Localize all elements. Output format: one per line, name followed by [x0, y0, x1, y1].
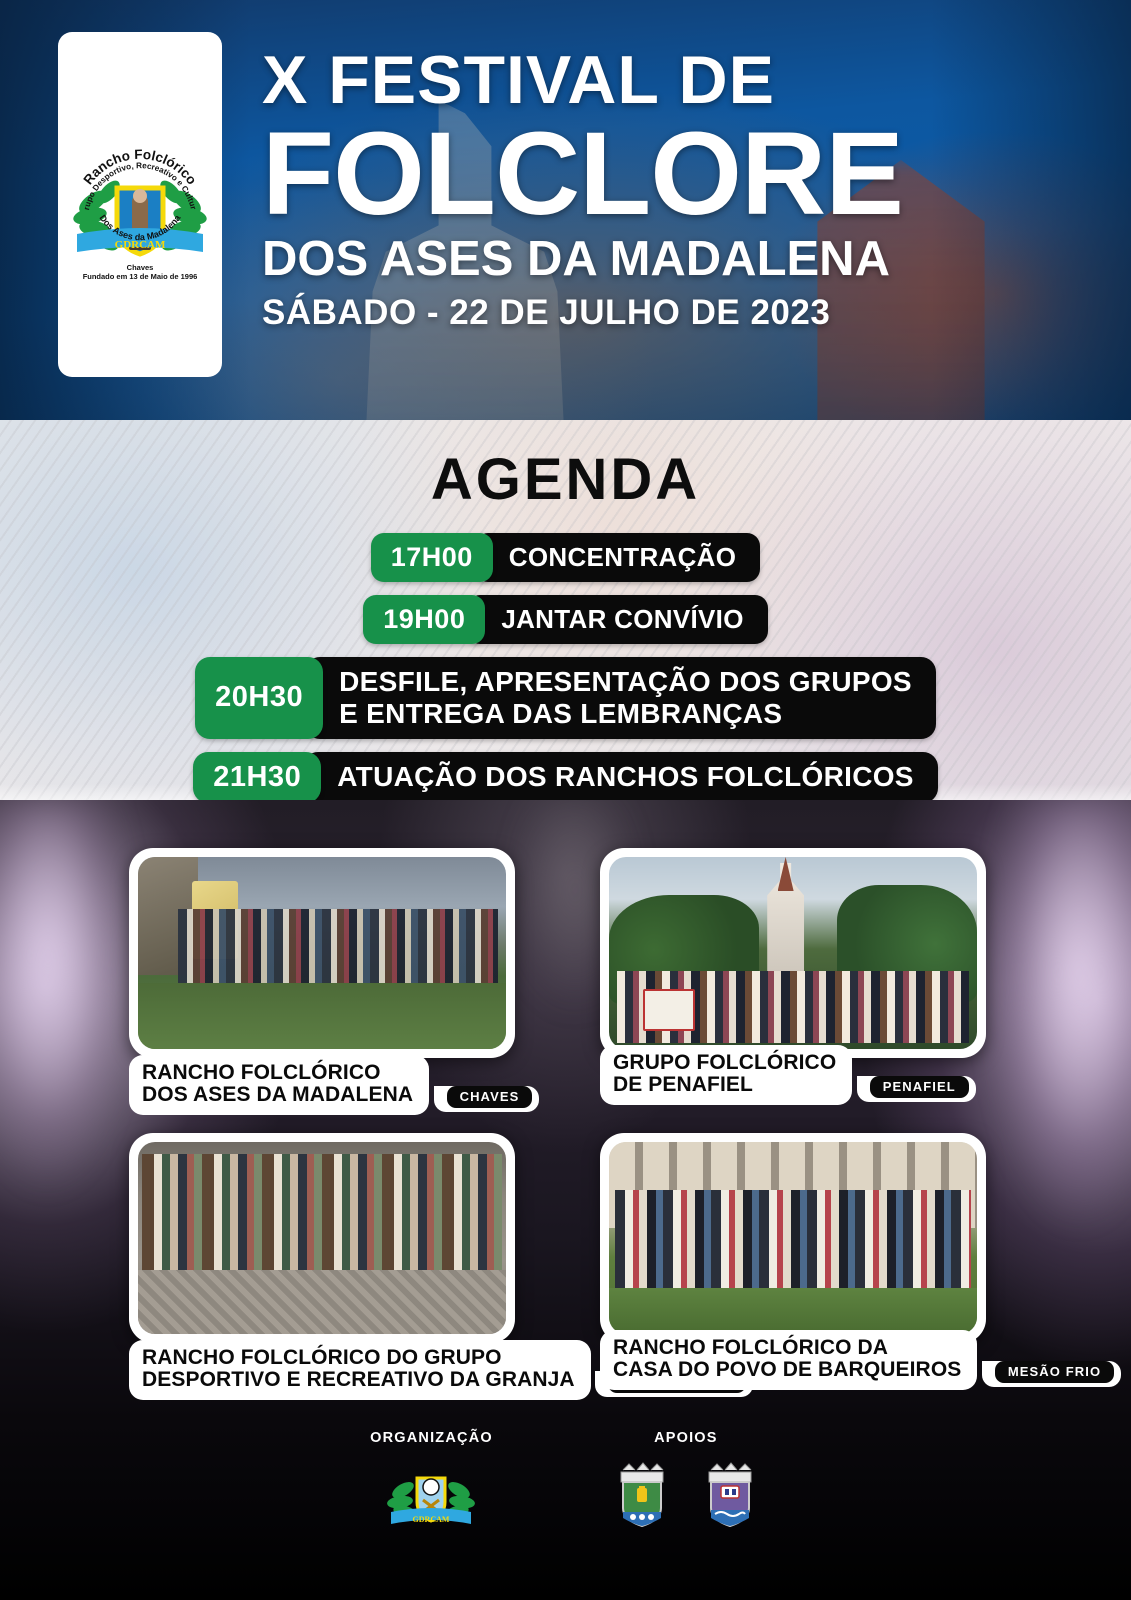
agenda-desc-line: CONCENTRAÇÃO	[509, 543, 736, 573]
title-line-1: X FESTIVAL DE	[262, 46, 1101, 114]
organization-logo-card: GDRCAM Rancho Folclórico Grupo Desportiv…	[58, 32, 222, 377]
gallery-right-glow	[971, 800, 1131, 1420]
group-caption: RANCHO FOLCLÓRICO DOS ASES DA MADALENA C…	[129, 1055, 539, 1115]
agenda-row: 19H00 JANTAR CONVÍVIO	[0, 595, 1131, 644]
group-badge-wrap: MESÃO FRIO	[982, 1361, 1121, 1387]
group-name-line: RANCHO FOLCLÓRICO	[142, 1062, 413, 1084]
supporter-logos	[611, 1460, 761, 1532]
photo-people-row	[142, 1154, 502, 1286]
agenda-row: 20H30 DESFILE, APRESENTAÇÃO DOS GRUPOS E…	[0, 657, 1131, 739]
agenda-desc-line: E ENTREGA DAS LEMBRANÇAS	[339, 698, 912, 730]
group-badge-wrap: CHAVES	[434, 1086, 540, 1112]
gdrcam-banner-text: GDRCAM	[413, 1515, 450, 1524]
gallery-left-glow	[0, 800, 150, 1420]
agenda-desc-line: JANTAR CONVÍVIO	[501, 605, 743, 635]
agenda-time-badge: 20H30	[195, 657, 323, 739]
agenda-section: AGENDA 17H00 CONCENTRAÇÃO 19H00 JANTAR C…	[0, 420, 1131, 800]
agenda-description: DESFILE, APRESENTAÇÃO DOS GRUPOS E ENTRE…	[305, 657, 936, 739]
group-name-line: GRUPO FOLCLÓRICO	[613, 1052, 836, 1074]
photo-cobblestone	[138, 1270, 506, 1334]
logo-subtext: Chaves Fundado em 13 de Maio de 1996	[67, 263, 213, 282]
group-location-badge: PENAFIEL	[870, 1076, 969, 1098]
group-name-line: DESPORTIVO E RECREATIVO DA GRANJA	[142, 1369, 575, 1391]
agenda-description: CONCENTRAÇÃO	[475, 533, 760, 582]
agenda-desc-line: ATUAÇÃO DOS RANCHOS FOLCLÓRICOS	[337, 761, 914, 793]
group-name-line: RANCHO FOLCLÓRICO DO GRUPO	[142, 1347, 575, 1369]
photo-group-banner	[643, 989, 695, 1031]
group-photo-image	[138, 857, 506, 1049]
group-name-line: RANCHO FOLCLÓRICO DA	[613, 1337, 961, 1359]
organization-logos: GDRCAM	[370, 1460, 493, 1538]
agenda-time-badge: 21H30	[193, 752, 321, 800]
event-date: SÁBADO - 22 DE JULHO DE 2023	[262, 294, 1101, 333]
group-photo-card	[129, 848, 515, 1058]
agenda-rows: 17H00 CONCENTRAÇÃO 19H00 JANTAR CONVÍVIO…	[0, 533, 1131, 800]
agenda-description: ATUAÇÃO DOS RANCHOS FOLCLÓRICOS	[303, 752, 938, 800]
group-name-line: CASA DO POVO DE BARQUEIROS	[613, 1359, 961, 1381]
poster-title-block: X FESTIVAL DE FOLCLORE DOS ASES DA MADAL…	[262, 46, 1101, 332]
agenda-row: 17H00 CONCENTRAÇÃO	[0, 533, 1131, 582]
group-location-badge: MESÃO FRIO	[995, 1361, 1114, 1383]
agenda-description: JANTAR CONVÍVIO	[467, 595, 767, 644]
gdrcam-crest-icon: GDRCAM	[387, 1460, 475, 1538]
photo-church-steeple	[778, 857, 794, 891]
group-photo-image	[138, 1142, 506, 1334]
poster-footer: ORGANIZAÇÃO	[0, 1420, 1131, 1600]
title-line-3: DOS ASES DA MADALENA	[262, 234, 1101, 285]
group-photo-card	[129, 1133, 515, 1343]
agenda-row: 21H30 ATUAÇÃO DOS RANCHOS FOLCLÓRICOS	[0, 752, 1131, 800]
group-name-line: DE PENAFIEL	[613, 1074, 836, 1096]
logo-founded: Fundado em 13 de Maio de 1996	[67, 272, 213, 281]
group-photo-card	[600, 1133, 986, 1343]
group-badge-wrap: PENAFIEL	[857, 1076, 976, 1102]
group-photo-card	[600, 848, 986, 1058]
photo-grass	[138, 983, 506, 1049]
group-photo-image	[609, 1142, 977, 1334]
group-name-line: DOS ASES DA MADALENA	[142, 1084, 413, 1106]
logo-city: Chaves	[67, 263, 213, 272]
agenda-time-badge: 17H00	[371, 533, 493, 582]
group-name: RANCHO FOLCLÓRICO DOS ASES DA MADALENA	[129, 1055, 429, 1115]
organizacao-label: ORGANIZAÇÃO	[370, 1430, 493, 1446]
group-caption: RANCHO FOLCLÓRICO DA CASA DO POVO DE BAR…	[600, 1330, 1121, 1390]
agenda-heading: AGENDA	[0, 420, 1131, 513]
apoios-label: APOIOS	[611, 1430, 761, 1446]
footer-columns: ORGANIZAÇÃO	[0, 1420, 1131, 1538]
rancho-crest-icon: GDRCAM Rancho Folclórico Grupo Desportiv…	[67, 130, 213, 280]
footer-organization-column: ORGANIZAÇÃO	[370, 1430, 493, 1538]
municipal-crest-green-icon	[611, 1460, 673, 1532]
group-name: GRUPO FOLCLÓRICO DE PENAFIEL	[600, 1045, 852, 1105]
group-location-badge: CHAVES	[447, 1086, 533, 1108]
footer-supporters-column: APOIOS	[611, 1430, 761, 1538]
agenda-desc-line: DESFILE, APRESENTAÇÃO DOS GRUPOS	[339, 666, 912, 698]
poster-header: GDRCAM Rancho Folclórico Grupo Desportiv…	[0, 0, 1131, 420]
photo-lawn	[609, 1288, 977, 1334]
group-name: RANCHO FOLCLÓRICO DA CASA DO POVO DE BAR…	[600, 1330, 977, 1390]
group-photo-image	[609, 857, 977, 1049]
poster-root: GDRCAM Rancho Folclórico Grupo Desportiv…	[0, 0, 1131, 1600]
group-name: RANCHO FOLCLÓRICO DO GRUPO DESPORTIVO E …	[129, 1340, 591, 1400]
municipal-crest-purple-icon	[699, 1460, 761, 1532]
title-line-2: FOLCLORE	[262, 118, 1101, 230]
group-caption: GRUPO FOLCLÓRICO DE PENAFIEL PENAFIEL	[600, 1045, 976, 1105]
agenda-time-badge: 19H00	[363, 595, 485, 644]
